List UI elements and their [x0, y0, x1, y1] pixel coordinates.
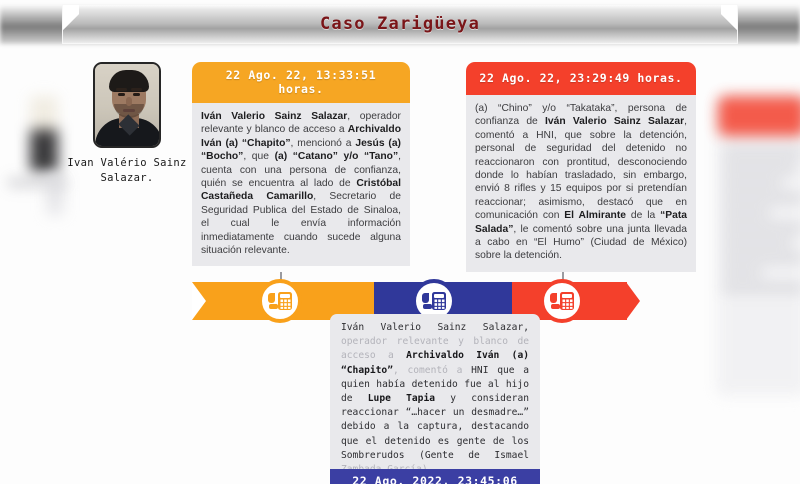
event-card-red: 22 Ago. 22, 23:29:49 horas. (a) “Chino” … [466, 62, 696, 272]
infographic-canvas: Caso Zarigüeya Ivan Valério Sainz Salaza… [0, 0, 800, 484]
subject-block: Ivan Valério Sainz Salazar. [62, 62, 192, 186]
telephone-icon [267, 290, 293, 312]
event-text-orange: Iván Valerio Sainz Salazar, operador rel… [192, 103, 410, 266]
background-blurred-photo [30, 96, 58, 172]
background-blurred-red-header-right [718, 96, 800, 136]
background-blurred-lines-right [722, 150, 800, 340]
telephone-icon [549, 290, 575, 312]
event-timestamp-orange: 22 Ago. 22, 13:33:51 horas. [192, 62, 410, 103]
event-timestamp-blue: 22 Ago. 2022, 23:45:06 horas. [330, 469, 540, 484]
header-bar: Caso Zarigüeya [62, 4, 738, 44]
page-title: Caso Zarigüeya [320, 14, 480, 34]
event-text-blue: Iván Valerio Sainz Salazar, operador rel… [330, 314, 540, 483]
background-blurred-text-left [8, 178, 66, 187]
subject-name: Ivan Valério Sainz Salazar. [62, 156, 192, 186]
event-card-blue: Iván Valerio Sainz Salazar, operador rel… [330, 314, 540, 484]
subject-photo [93, 62, 161, 148]
timeline-node-orange[interactable] [258, 279, 302, 323]
event-card-orange: 22 Ago. 22, 13:33:51 horas. Iván Valerio… [192, 62, 410, 266]
timeline-node-red[interactable] [540, 279, 584, 323]
background-blurred-card-right [716, 96, 800, 396]
event-text-red: (a) “Chino” y/o “Takataka”, persona de c… [466, 95, 696, 272]
telephone-icon [421, 290, 447, 312]
event-timestamp-red: 22 Ago. 22, 23:29:49 horas. [466, 62, 696, 95]
